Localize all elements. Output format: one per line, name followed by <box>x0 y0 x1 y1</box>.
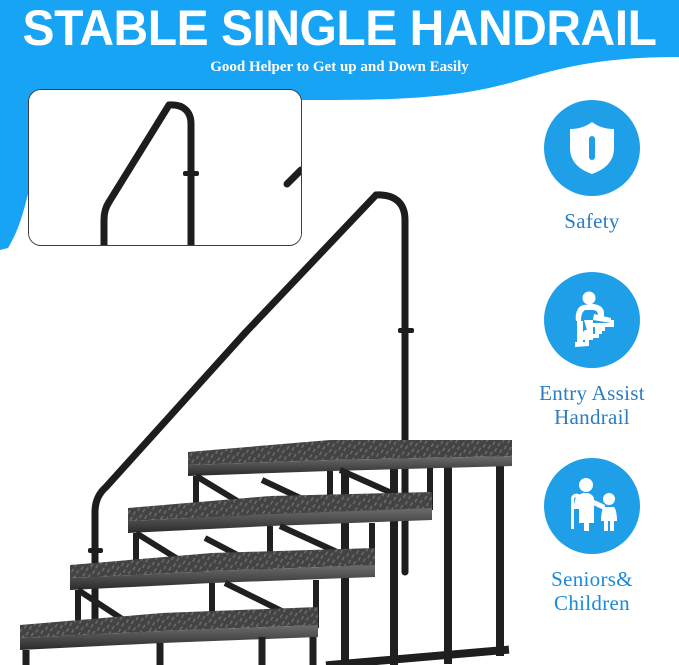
feature-item-safety[interactable]: Safety <box>505 100 679 233</box>
step-1 <box>20 607 318 665</box>
shield-icon <box>566 120 618 176</box>
feature-label-line2: Children <box>505 591 679 615</box>
feature-label-safety: Safety <box>505 209 679 233</box>
feature-item-seniors-children[interactable]: Seniors& Children <box>505 458 679 615</box>
header-text-group: STABLE SINGLE HANDRAIL Good Helper to Ge… <box>0 0 679 88</box>
feature-item-entry-assist[interactable]: Entry Assist Handrail <box>505 272 679 429</box>
feature-label-line1: Entry Assist <box>505 381 679 405</box>
feature-label-line1: Seniors& <box>505 567 679 591</box>
feature-label-seniors-children: Seniors& Children <box>505 567 679 615</box>
feature-label-line2: Handrail <box>505 405 679 429</box>
person-climbing-stairs-icon <box>563 290 621 350</box>
page-subtitle: Good Helper to Get up and Down Easily <box>0 58 679 77</box>
inset-rail-fitting <box>183 171 199 176</box>
feature-icon-circle <box>544 458 640 554</box>
feature-icon-circle <box>544 272 640 368</box>
feature-label-line1: Safety <box>564 209 619 233</box>
feature-icon-circle <box>544 100 640 196</box>
page-title: STABLE SINGLE HANDRAIL <box>14 1 666 55</box>
senior-and-child-icon <box>561 477 623 535</box>
handrail-closeup-inset <box>28 89 302 246</box>
feature-label-entry-assist: Entry Assist Handrail <box>505 381 679 429</box>
product-infographic: STABLE SINGLE HANDRAIL Good Helper to Ge… <box>0 0 679 665</box>
feature-list: Safety <box>505 100 679 660</box>
